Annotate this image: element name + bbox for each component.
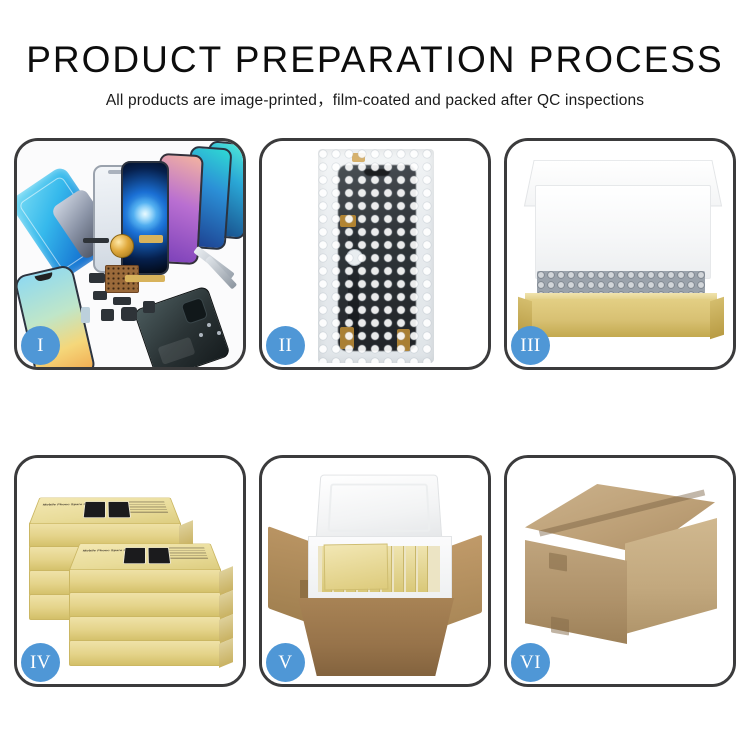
packed-box-flat-icon bbox=[324, 543, 389, 590]
stacked-box-5 bbox=[69, 568, 221, 594]
process-step-5: V bbox=[259, 455, 491, 687]
box-window-1-front bbox=[123, 547, 146, 564]
small-ic-icon bbox=[143, 301, 155, 313]
shipping-carton-body-icon bbox=[298, 598, 454, 676]
step-badge-5: V bbox=[266, 643, 305, 682]
carton-tab-bottom-icon bbox=[551, 616, 569, 635]
stacked-box-8 bbox=[69, 640, 221, 666]
box-window-1-back bbox=[83, 501, 106, 518]
kraft-mailer-box-icon bbox=[525, 299, 717, 337]
carton-tab-top-icon bbox=[549, 552, 567, 571]
header: PRODUCT PREPARATION PROCESS All products… bbox=[0, 0, 750, 111]
foam-cooler-lid-icon bbox=[315, 475, 442, 542]
screw-1-icon bbox=[207, 323, 211, 327]
box-spec-lines-back bbox=[129, 501, 170, 516]
process-step-1: I bbox=[14, 138, 246, 370]
process-step-grid: I II bbox=[14, 138, 736, 687]
phone-display-1-icon bbox=[121, 161, 169, 275]
foam-sheet-icon bbox=[535, 185, 711, 279]
product-preparation-infographic: PRODUCT PREPARATION PROCESS All products… bbox=[0, 0, 750, 750]
step-badge-1: I bbox=[21, 326, 60, 365]
screw-3-icon bbox=[199, 333, 203, 337]
stacked-box-top-front: Mobile Phone Spare Parts bbox=[69, 544, 221, 570]
screw-2-icon bbox=[217, 331, 221, 335]
box-window-2-front bbox=[148, 547, 172, 564]
camera-module-icon bbox=[89, 273, 105, 283]
process-step-4: Mobile Phone Spare Parts Mobile Phone Sp… bbox=[14, 455, 246, 687]
stacked-box-7 bbox=[69, 616, 221, 642]
process-step-2: II bbox=[259, 138, 491, 370]
box-stack: Mobile Phone Spare Parts Mobile Phone Sp… bbox=[25, 476, 237, 670]
carton-front-face-icon bbox=[525, 540, 627, 644]
speaker-module-icon bbox=[110, 234, 134, 258]
earpiece-icon bbox=[121, 307, 137, 321]
page-title: PRODUCT PREPARATION PROCESS bbox=[0, 38, 750, 82]
process-step-6: VI bbox=[504, 455, 736, 687]
bubble-texture bbox=[318, 149, 434, 363]
flex-cable-1-icon bbox=[139, 235, 163, 243]
stacked-box-6 bbox=[69, 592, 221, 618]
vibration-motor-icon bbox=[101, 309, 114, 321]
page-subtitle: All products are image-printed，film-coat… bbox=[0, 91, 750, 111]
step-badge-2: II bbox=[266, 326, 305, 365]
flex-cable-2-icon bbox=[125, 275, 165, 282]
stacked-box-top-back: Mobile Phone Spare Parts bbox=[29, 498, 181, 524]
battery-cell-icon bbox=[81, 307, 90, 323]
phone-back-housing-icon bbox=[133, 285, 231, 367]
step-badge-4: IV bbox=[21, 643, 60, 682]
box-window-2-back bbox=[108, 501, 132, 518]
step-badge-6: VI bbox=[511, 643, 550, 682]
connector-icon bbox=[113, 297, 131, 305]
process-step-3: III bbox=[504, 138, 736, 370]
ic-chip-icon bbox=[93, 291, 107, 300]
antenna-strip-icon bbox=[83, 238, 109, 243]
box-spec-lines-front bbox=[169, 547, 210, 562]
step-badge-3: III bbox=[511, 326, 550, 365]
bubble-wrap-bag bbox=[318, 149, 434, 363]
